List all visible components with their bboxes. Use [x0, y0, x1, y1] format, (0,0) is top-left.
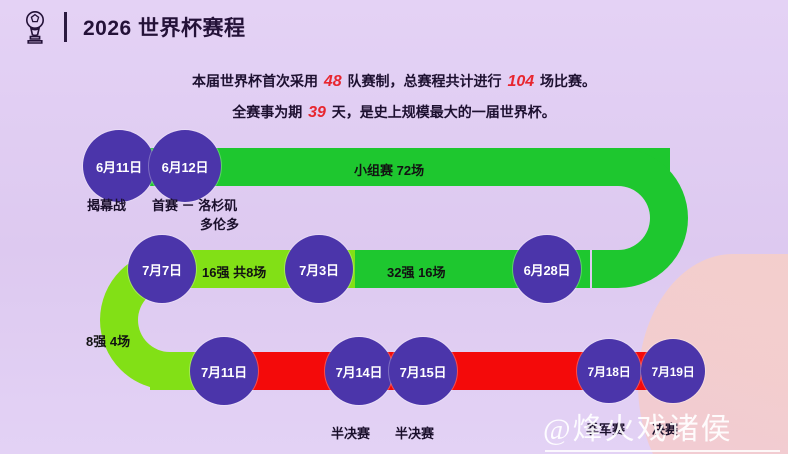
node-jul-14[interactable]: 7月14日: [325, 337, 393, 405]
header-divider: [64, 12, 67, 42]
node-jul-18[interactable]: 7月18日: [577, 339, 641, 403]
header: 2026 世界杯赛程: [0, 0, 788, 54]
node-jul-19[interactable]: 7月19日: [641, 339, 705, 403]
node-jun-28[interactable]: 6月28日: [513, 235, 581, 303]
intro-text: 本届世界杯首次采用 48 队赛制，总赛程共计进行 104 场比赛。 全赛事为期 …: [0, 66, 788, 128]
caption-semi-final-1: 半决赛: [331, 424, 370, 443]
intro-line-1-part-a: 本届世界杯首次采用: [192, 73, 318, 89]
intro-line-2-part-b: 天，是史上规模最大的一届世界杯。: [332, 104, 556, 120]
node-jul-7[interactable]: 7月7日: [128, 235, 196, 303]
watermark: @烽火戏诸侯: [543, 404, 733, 448]
intro-line-2: 全赛事为期 39 天，是史上规模最大的一届世界杯。: [0, 97, 788, 128]
caption-first-match-line1: 首赛 － 洛杉矶: [152, 196, 237, 215]
watermark-underline: [545, 450, 780, 452]
caption-first-match-line2: 多伦多: [200, 215, 239, 234]
caption-third-place-match: 季军赛: [586, 420, 625, 439]
label-group-stage: 小组赛 72场: [354, 160, 424, 179]
page-title: 2026 世界杯赛程: [83, 12, 246, 42]
infographic-canvas: 2026 世界杯赛程 本届世界杯首次采用 48 队赛制，总赛程共计进行 104 …: [0, 0, 788, 454]
team-count-value: 48: [322, 73, 344, 90]
node-jul-3[interactable]: 7月3日: [285, 235, 353, 303]
intro-line-2-part-a: 全赛事为期: [232, 104, 302, 120]
label-quarter-final: 8强 4场: [86, 331, 130, 350]
node-jul-15[interactable]: 7月15日: [389, 337, 457, 405]
caption-opening-match: 揭幕战: [87, 196, 126, 215]
track-turn-right: [592, 148, 688, 288]
intro-line-1: 本届世界杯首次采用 48 队赛制，总赛程共计进行 104 场比赛。: [0, 66, 788, 97]
match-count-value: 104: [505, 73, 536, 90]
caption-final-match: 决赛: [652, 420, 678, 439]
world-cup-trophy-icon: [20, 10, 50, 44]
node-jul-11[interactable]: 7月11日: [190, 337, 258, 405]
label-round-of-16: 16强 共8场: [202, 262, 266, 281]
duration-days-value: 39: [306, 104, 328, 121]
intro-line-1-part-c: 场比赛。: [540, 73, 596, 89]
label-round-of-32: 32强 16场: [387, 262, 446, 281]
caption-semi-final-2: 半决赛: [395, 424, 434, 443]
node-jun-11[interactable]: 6月11日: [83, 130, 155, 202]
intro-line-1-part-b: 队赛制，总赛程共计进行: [348, 73, 502, 89]
node-jun-12[interactable]: 6月12日: [149, 130, 221, 202]
